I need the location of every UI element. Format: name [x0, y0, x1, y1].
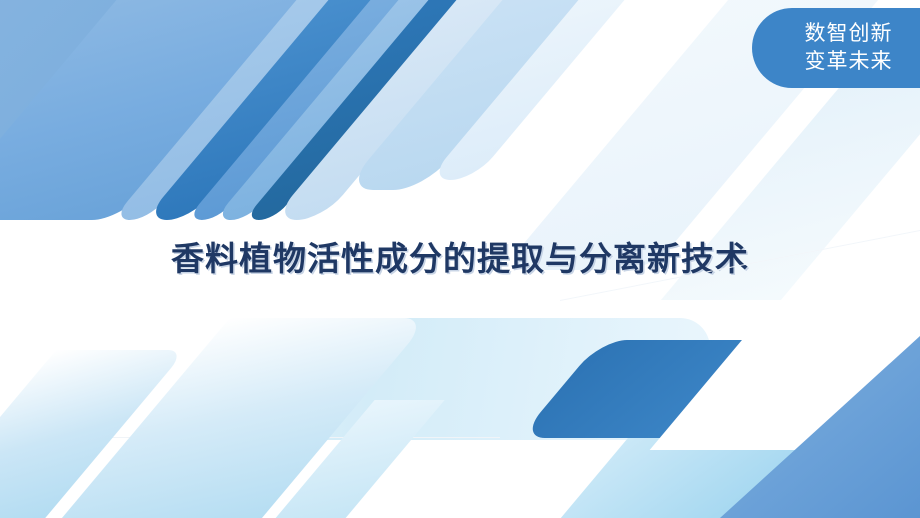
slogan-badge-line-2: 变革未来: [805, 48, 893, 76]
slogan-badge: 数智创新 变革未来: [752, 8, 920, 88]
slide-canvas: 数智创新 变革未来 香料植物活性成分的提取与分离新技术: [0, 0, 920, 518]
slogan-badge-line-1: 数智创新: [805, 20, 893, 48]
